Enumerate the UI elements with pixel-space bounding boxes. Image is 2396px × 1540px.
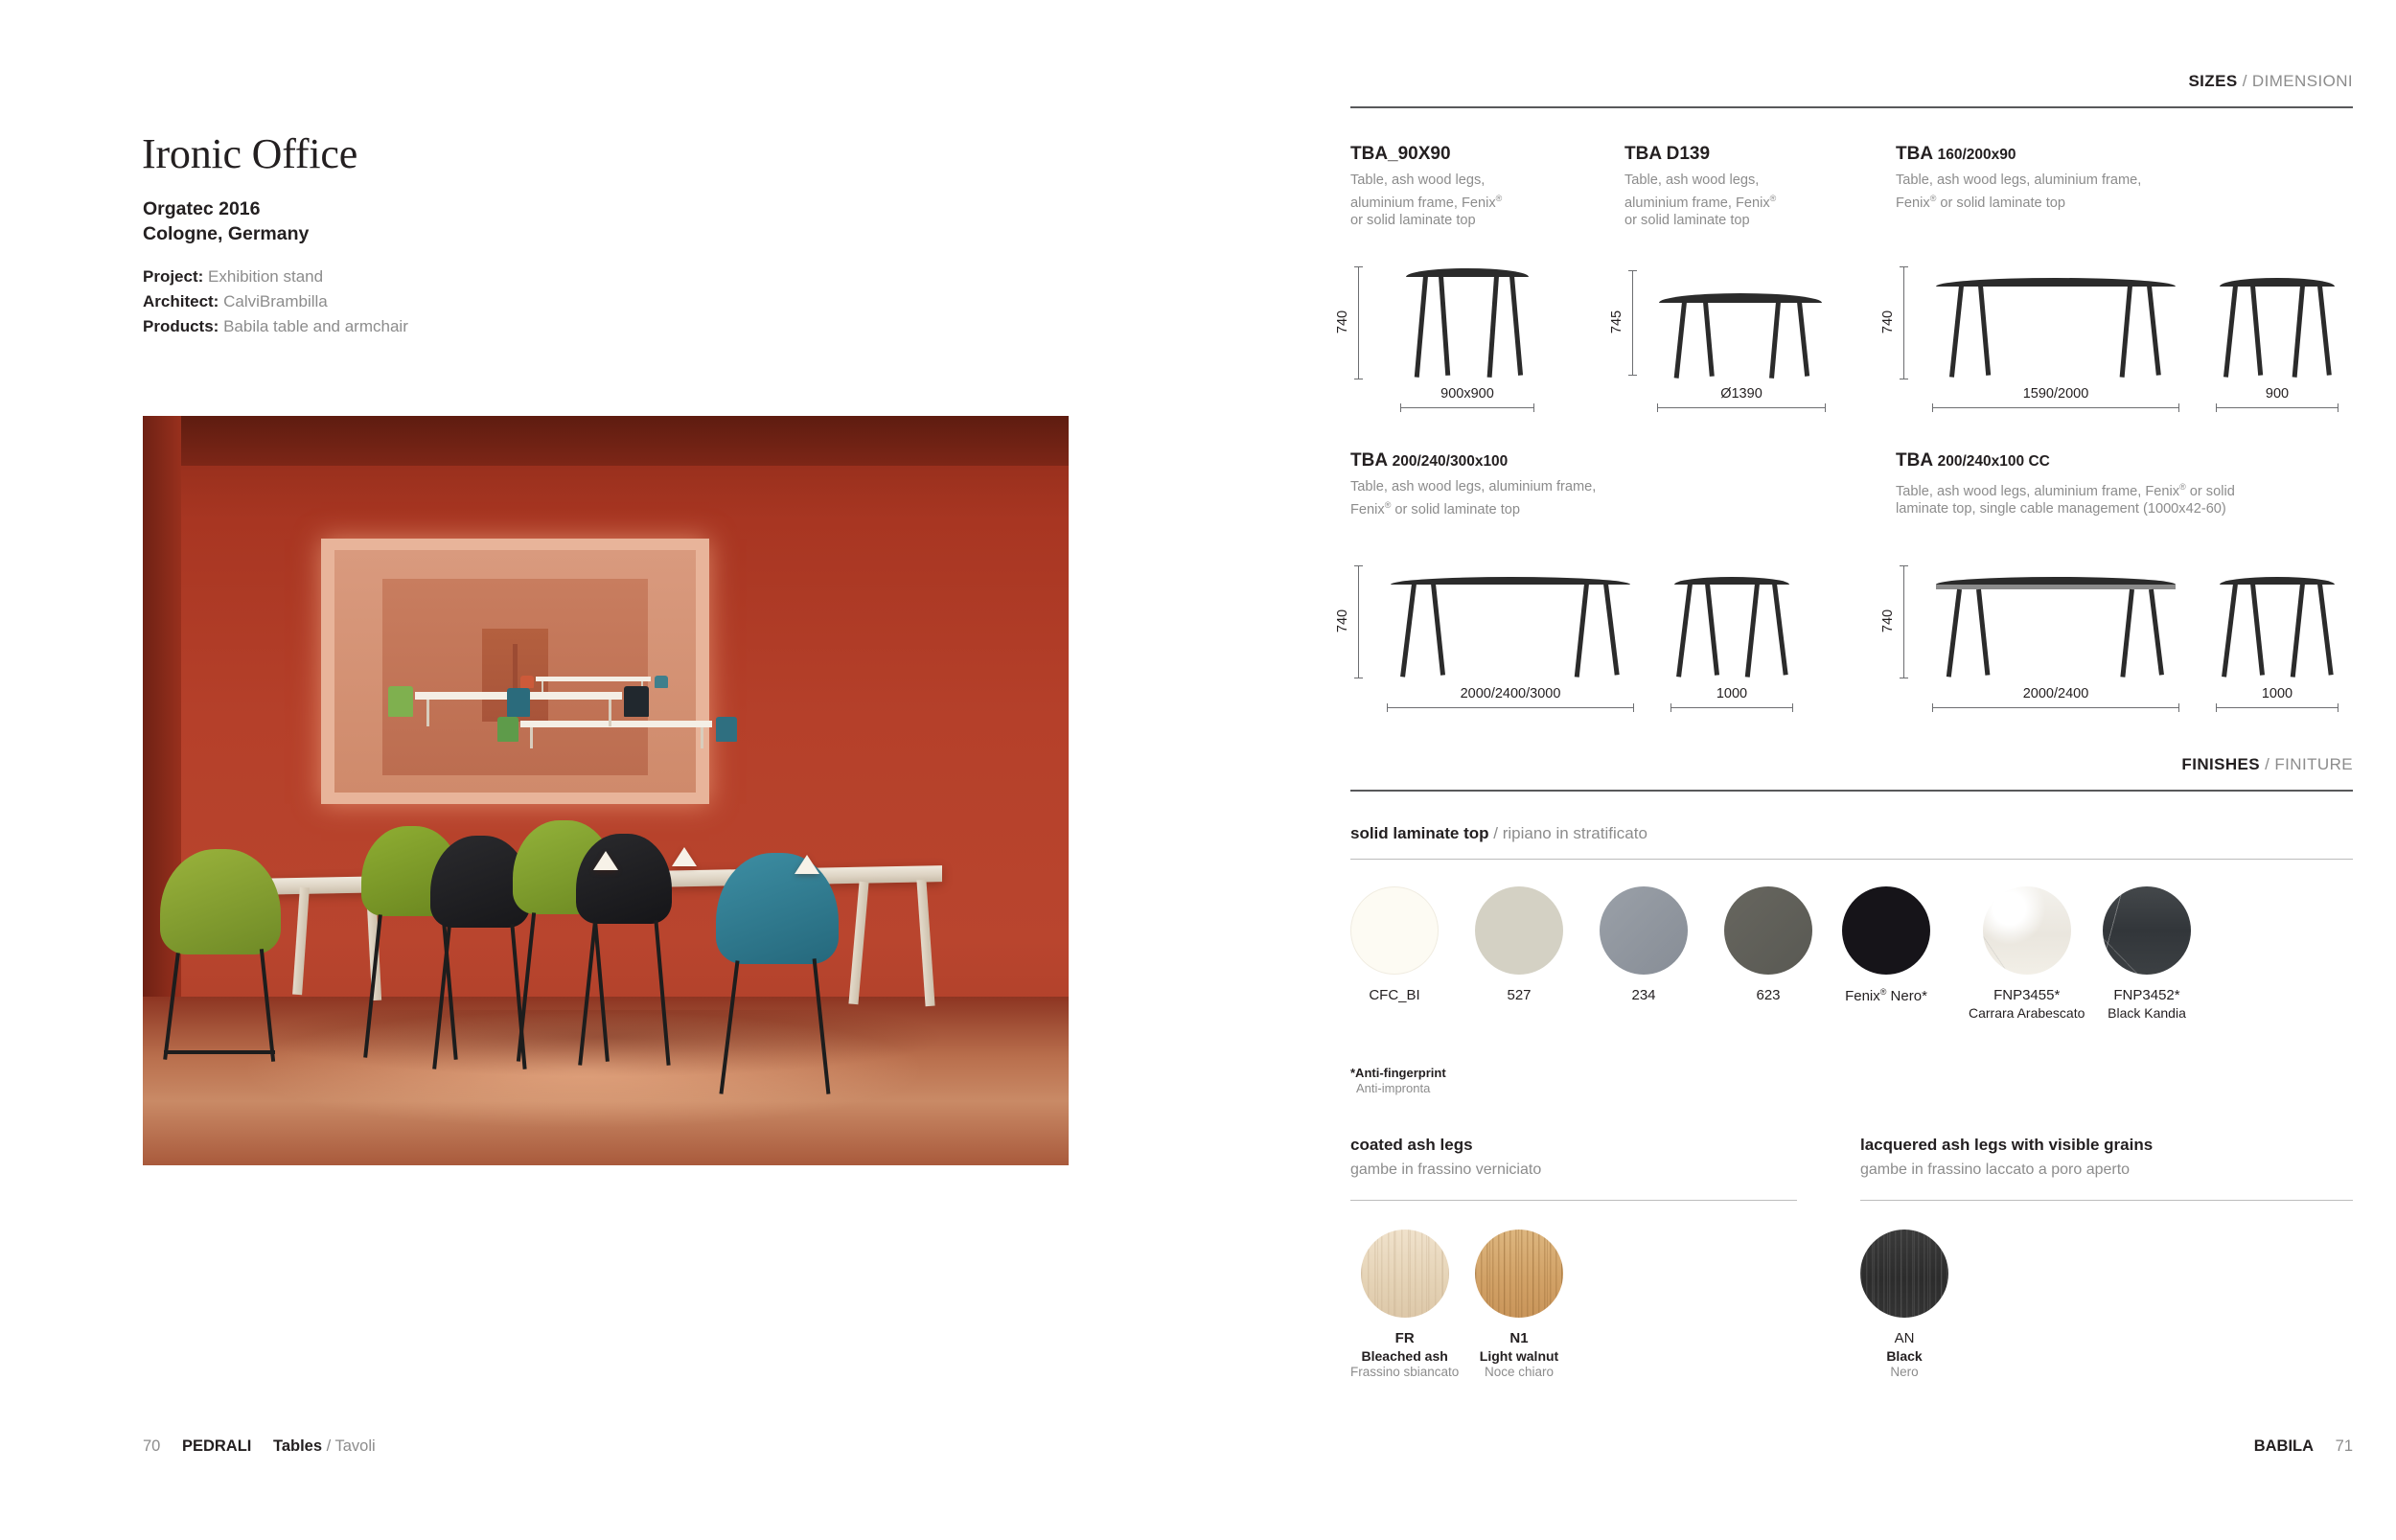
swatch-code: 234	[1600, 987, 1688, 1003]
event-city: Cologne, Germany	[143, 221, 309, 246]
sizes-divider	[1350, 106, 2353, 108]
spec-tba-160-200x90: TBA 160/200x90 Table, ash wood legs, alu…	[1896, 144, 2298, 212]
spec-description: Table, ash wood legs,aluminium frame, Fe…	[1624, 172, 1855, 230]
swatch-code: FR	[1350, 1330, 1459, 1346]
swatch-527[interactable]: 527	[1475, 886, 1563, 1003]
drawing-tba-160-200x90: 740 1590/2000	[1896, 259, 2346, 388]
swatch-n1[interactable]: N1 Light walnut Noce chiaro	[1475, 1230, 1563, 1379]
drawing-tba-d139: 745 Ø1390	[1624, 259, 1874, 388]
height-value: 740	[1335, 609, 1350, 632]
depth-value: 1000	[1670, 686, 1793, 701]
width-value: Ø1390	[1657, 386, 1826, 402]
left-page: Ironic Office Orgatec 2016 Cologne, Germ…	[0, 0, 1289, 1540]
footnote-en: *Anti-fingerprint	[1350, 1066, 1446, 1080]
spec-code: TBA D139	[1624, 144, 1710, 164]
spec-tba-200-240x100-cc: TBA 200/240x100 CC Table, ash wood legs,…	[1896, 450, 2317, 518]
spec-code: TBA	[1350, 450, 1387, 471]
spec-code-variant: 160/200x90	[1938, 147, 2016, 163]
category-label-it: / Tavoli	[327, 1437, 376, 1455]
spec-code: TBA_90X90	[1350, 144, 1451, 164]
right-page: SIZES / DIMENSIONI TBA_90X90 Table, ash …	[1289, 0, 2396, 1540]
page-number-right: 71	[2318, 1437, 2353, 1455]
swatch-name: Carrara Arabescato	[1969, 1005, 2085, 1021]
laminate-swatches: CFC_BI 527 234 623 Fenix® Nero* FNP3455*	[1350, 886, 2353, 1069]
meta-row-products: Products: Babila table and armchair	[143, 314, 408, 339]
width-value: 2000/2400/3000	[1387, 686, 1634, 701]
photo-centerpiece-3	[795, 855, 819, 874]
height-value: 740	[1880, 609, 1896, 632]
spec-tba-90x90: TBA_90X90 Table, ash wood legs,aluminium…	[1350, 144, 1580, 230]
meta-row-project: Project: Exhibition stand	[143, 264, 408, 289]
depth-value: 900	[2216, 386, 2338, 402]
drawing-tba-200-240x100-cc: 740 2000/2400	[1896, 556, 2346, 685]
swatch-code: AN	[1860, 1330, 1948, 1346]
meta-label-architect: Architect:	[143, 292, 219, 310]
swatch-code: N1	[1475, 1330, 1563, 1346]
swatch-234[interactable]: 234	[1600, 886, 1688, 1003]
spec-description: Table, ash wood legs, aluminium frame, F…	[1896, 478, 2317, 518]
photo-ceiling	[143, 416, 1069, 466]
swatch-color	[1842, 886, 1930, 975]
lacquered-divider	[1860, 1200, 2353, 1201]
height-value: 745	[1609, 310, 1624, 333]
meta-label-products: Products:	[143, 317, 219, 335]
coated-title-en: coated ash legs	[1350, 1136, 1473, 1154]
brand-name: PEDRALI	[165, 1437, 251, 1455]
category-label: Tables	[256, 1437, 322, 1455]
swatch-name: Bleached ash	[1350, 1348, 1459, 1364]
swatch-name-it: Frassino sbiancato	[1350, 1365, 1459, 1379]
coated-group-title: coated ash legs	[1350, 1136, 1473, 1155]
photo-nested-frame	[321, 539, 709, 804]
finishes-heading-en: FINISHES	[2181, 755, 2260, 773]
depth-value: 1000	[2216, 686, 2338, 701]
spec-tba-d139: TBA D139 Table, ash wood legs,aluminium …	[1624, 144, 1855, 230]
finishes-section-heading: FINISHES / FINITURE	[2181, 755, 2353, 774]
swatch-color	[1361, 1230, 1449, 1318]
spec-code-variant: 200/240/300x100	[1393, 453, 1509, 470]
width-value: 900x900	[1400, 386, 1534, 402]
swatch-color	[1350, 886, 1439, 975]
swatch-623[interactable]: 623	[1724, 886, 1812, 1003]
swatch-color	[1475, 1230, 1563, 1318]
spec-code-variant: 200/240x100 CC	[1938, 453, 2050, 470]
height-value: 740	[1335, 310, 1350, 333]
coated-divider	[1350, 1200, 1797, 1201]
spec-tba-200-240-300x100: TBA 200/240/300x100 Table, ash wood legs…	[1350, 450, 1753, 518]
swatch-color	[1600, 886, 1688, 975]
laminate-divider	[1350, 859, 2353, 860]
spec-code: TBA	[1896, 144, 1932, 164]
swatch-name-it: Nero	[1860, 1365, 1948, 1379]
swatch-color	[1860, 1230, 1948, 1318]
meta-value-project: Exhibition stand	[208, 267, 323, 286]
swatch-an[interactable]: AN Black Nero	[1860, 1230, 1948, 1379]
sizes-section-heading: SIZES / DIMENSIONI	[2188, 72, 2353, 91]
swatch-fr[interactable]: FR Bleached ash Frassino sbiancato	[1350, 1230, 1459, 1379]
footnote-it: Anti-impronta	[1350, 1081, 1430, 1095]
swatch-name-it: Noce chiaro	[1475, 1365, 1563, 1379]
lacquered-title-en: lacquered ash legs with visible grains	[1860, 1136, 2153, 1154]
meta-label-project: Project:	[143, 267, 203, 286]
swatch-cfc-bi[interactable]: CFC_BI	[1350, 886, 1439, 1003]
swatch-fnp3452[interactable]: FNP3452* Black Kandia	[2103, 886, 2191, 1021]
swatch-fenix-nero[interactable]: Fenix® Nero*	[1842, 886, 1930, 1004]
lacquered-group-title: lacquered ash legs with visible grains	[1860, 1136, 2153, 1155]
finishes-heading-it: / FINITURE	[2265, 755, 2353, 773]
swatch-color	[1983, 886, 2071, 975]
height-value: 740	[1880, 310, 1896, 333]
laminate-title-it: / ripiano in stratificato	[1493, 824, 1647, 842]
swatch-code: FNP3455*	[1969, 987, 2085, 1003]
spec-description: Table, ash wood legs,aluminium frame, Fe…	[1350, 172, 1580, 230]
swatch-name: Black	[1860, 1348, 1948, 1364]
footer-right: BABILA 71	[2254, 1437, 2353, 1456]
project-metadata: Project: Exhibition stand Architect: Cal…	[143, 264, 408, 339]
swatch-color	[1475, 886, 1563, 975]
event-location: Orgatec 2016 Cologne, Germany	[143, 196, 309, 246]
finishes-divider	[1350, 790, 2353, 792]
drawing-tba-200-240-300x100: 740 2000/2400/3000	[1350, 556, 1801, 685]
sizes-heading-it: / DIMENSIONI	[2243, 72, 2353, 90]
spec-description: Table, ash wood legs, aluminium frame,Fe…	[1350, 478, 1753, 518]
footer-left: 70 PEDRALI Tables / Tavoli	[143, 1437, 376, 1456]
swatch-fnp3455[interactable]: FNP3455* Carrara Arabescato	[1969, 886, 2085, 1021]
laminate-group-title: solid laminate top / ripiano in stratifi…	[1350, 824, 1647, 843]
swatch-name: Black Kandia	[2103, 1005, 2191, 1021]
photo-centerpiece-1	[593, 851, 618, 870]
laminate-title-en: solid laminate top	[1350, 824, 1489, 842]
swatch-color	[1724, 886, 1812, 975]
swatch-code: CFC_BI	[1350, 987, 1439, 1003]
lacquered-title-it: gambe in frassino laccato a poro aperto	[1860, 1161, 2130, 1179]
event-name: Orgatec 2016	[143, 196, 309, 221]
width-value: 1590/2000	[1932, 386, 2179, 402]
meta-value-architect: CalviBrambilla	[223, 292, 328, 310]
swatch-code: 623	[1724, 987, 1812, 1003]
spec-description: Table, ash wood legs, aluminium frame,Fe…	[1896, 172, 2298, 212]
meta-row-architect: Architect: CalviBrambilla	[143, 289, 408, 314]
sizes-heading-en: SIZES	[2188, 72, 2237, 90]
drawing-tba-90x90: 740 900x900	[1350, 259, 1600, 388]
family-name: BABILA	[2254, 1437, 2314, 1455]
coated-title-it: gambe in frassino verniciato	[1350, 1161, 1541, 1179]
swatch-code: 527	[1475, 987, 1563, 1003]
spec-code: TBA	[1896, 450, 1932, 471]
swatch-color	[2103, 886, 2191, 975]
catalogue-spread: Ironic Office Orgatec 2016 Cologne, Germ…	[0, 0, 2396, 1540]
project-photo	[143, 416, 1069, 1165]
swatch-name: Light walnut	[1475, 1348, 1563, 1364]
anti-fingerprint-footnote: *Anti-fingerprint Anti-impronta	[1350, 1066, 1446, 1096]
swatch-code: FNP3452*	[2103, 987, 2191, 1003]
meta-value-products: Babila table and armchair	[223, 317, 408, 335]
width-value: 2000/2400	[1932, 686, 2179, 701]
page-number-left: 70	[143, 1437, 160, 1455]
photo-centerpiece-2	[672, 847, 697, 866]
swatch-code: Fenix® Nero*	[1842, 987, 1930, 1004]
page-title: Ironic Office	[142, 129, 357, 178]
